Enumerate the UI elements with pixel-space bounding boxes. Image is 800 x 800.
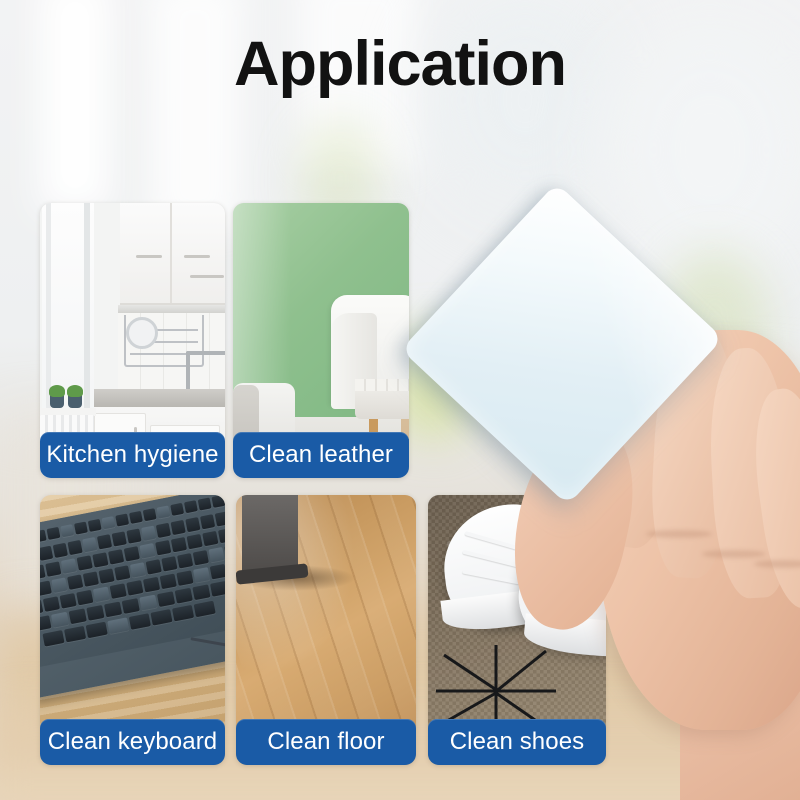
keyboard-key (139, 543, 155, 558)
card-clean-keyboard[interactable]: Clean keyboard (40, 495, 225, 765)
keyboard-key (40, 615, 51, 631)
keyboard-key (194, 601, 216, 618)
keyboard-key (198, 497, 212, 510)
keyboard-key (218, 528, 225, 543)
card-label-clean-leather: Clean leather (233, 432, 409, 478)
keyboard-key (143, 508, 157, 521)
keyboard-key (97, 534, 112, 549)
keyboard-key (143, 577, 160, 593)
keyboard-key (88, 519, 102, 532)
keyboard-key (69, 608, 87, 624)
keyboard-key (155, 540, 171, 555)
keyboard-key (193, 550, 209, 565)
keyboard-key (92, 552, 108, 567)
keyboard-key (67, 574, 83, 589)
keyboard-key (76, 590, 93, 606)
keyboard-key (170, 503, 184, 516)
keyboard-key (122, 598, 140, 614)
keyboard-key (40, 546, 53, 561)
keyboard-key (86, 622, 108, 639)
keyboard-key (215, 511, 225, 526)
keyboard-key (51, 612, 69, 628)
keyboard-key (161, 556, 177, 571)
keyboard-key (176, 570, 193, 586)
keyboard-key (53, 543, 68, 558)
keyboard-key (184, 500, 198, 513)
keyboard-key (129, 613, 151, 630)
keyboard-key (108, 549, 124, 564)
keyboard-key (193, 567, 210, 583)
keyboard-key (126, 580, 143, 596)
keyboard-key (156, 523, 171, 538)
keyboard-key (130, 562, 146, 577)
card-clean-leather[interactable]: Clean leather (233, 203, 409, 478)
keyboard-key (141, 526, 156, 541)
keyboard-key (177, 553, 193, 568)
keyboard-key (86, 605, 104, 621)
keyboard-key (171, 520, 186, 535)
keyboard-key (114, 565, 130, 580)
application-infographic: Application (0, 0, 800, 800)
keyboard-key (40, 530, 47, 543)
keyboard-key (60, 524, 74, 537)
keyboard-key (171, 537, 187, 552)
keyboard-key (126, 528, 141, 543)
keyboard-key (139, 595, 157, 611)
keyboard-key (156, 505, 170, 518)
keyboard-key (83, 571, 99, 586)
keyboard-key (172, 605, 194, 622)
keyboard-key (42, 630, 64, 647)
keyboard-key (64, 626, 86, 643)
keyboard-key (150, 609, 172, 626)
card-label-clean-floor: Clean floor (236, 719, 416, 765)
keyboard-key (77, 555, 93, 570)
keyboard-key (107, 617, 129, 634)
keyboard-key (115, 513, 129, 526)
keyboard-key (211, 495, 225, 508)
keyboard-key (160, 574, 177, 590)
keyboard-key (67, 540, 82, 555)
card-clean-floor[interactable]: Clean floor (236, 495, 416, 765)
keyboard-key (61, 558, 77, 573)
keyboard-key (192, 584, 210, 600)
keyboard-key (146, 559, 162, 574)
hand-holding-sponge (430, 230, 800, 760)
keyboard-key (175, 588, 193, 604)
keyboard-key (210, 581, 225, 597)
keyboard-key (93, 587, 110, 603)
card-label-kitchen-hygiene: Kitchen hygiene (40, 432, 225, 478)
keyboard-key (47, 527, 61, 540)
keyboard-key (110, 583, 127, 599)
keyboard-key (187, 534, 203, 549)
keyboard-key (104, 601, 122, 617)
keyboard-key (40, 581, 52, 596)
keyboard-key (157, 591, 175, 607)
card-kitchen-hygiene[interactable]: Kitchen hygiene (40, 203, 225, 478)
page-title: Application (0, 33, 800, 96)
keyboard-key (208, 547, 224, 562)
keyboard-key (43, 596, 60, 612)
keyboard-key (98, 568, 114, 583)
keyboard-key (45, 561, 61, 576)
keyboard-key (129, 511, 143, 524)
keyboard-key (185, 517, 200, 532)
keyboard-key (51, 577, 67, 592)
keyboard-key (74, 521, 88, 534)
keyboard-key (200, 514, 215, 529)
keyboard-key (60, 593, 77, 609)
keyboard-key (82, 537, 97, 552)
card-label-clean-keyboard: Clean keyboard (40, 719, 225, 765)
keyboard-key (124, 546, 140, 561)
keyboard-key (112, 531, 127, 546)
keyboard-key (210, 564, 225, 580)
keyboard-key (202, 531, 218, 546)
keyboard-key (102, 516, 116, 529)
